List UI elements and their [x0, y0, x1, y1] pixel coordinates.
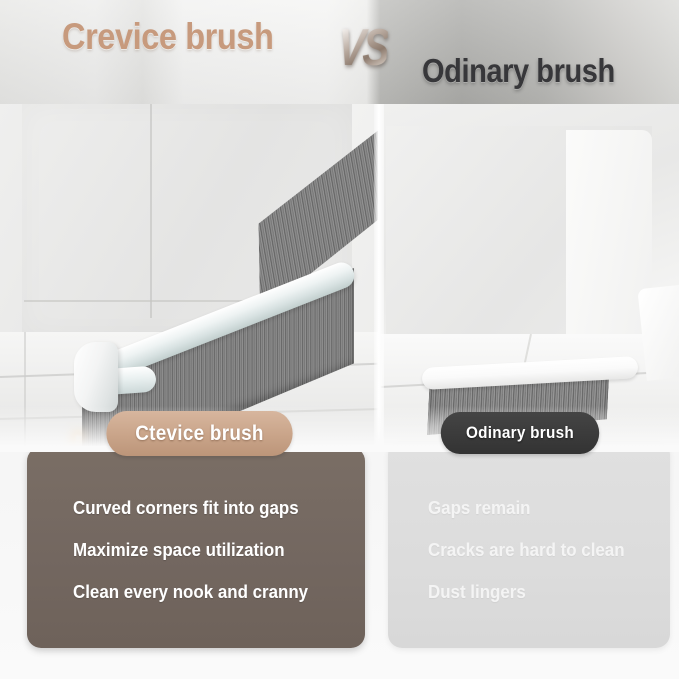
right-photo-ordinary-brush: [380, 104, 679, 452]
left-card-badge: Ctevice brush: [106, 411, 292, 456]
list-item: Gaps remain: [428, 498, 625, 519]
wall-edge: [566, 130, 652, 352]
panel-divider: [374, 104, 384, 452]
infographic-root: Crevice brush Odinary brush VS: [0, 0, 679, 679]
left-benefit-list: Curved corners fit into gaps Maximize sp…: [73, 498, 323, 624]
right-card-badge: Odinary brush: [441, 412, 599, 454]
header-left-title: Crevice brush: [62, 16, 273, 58]
list-item: Clean every nook and cranny: [73, 582, 308, 603]
right-drawback-list: Gaps remain Cracks are hard to clean Dus…: [428, 498, 637, 624]
list-item: Dust lingers: [428, 582, 625, 603]
list-item: Cracks are hard to clean: [428, 540, 625, 561]
wall-seam: [150, 104, 152, 318]
brush-end-cap: [74, 342, 118, 412]
header-right-title: Odinary brush: [422, 52, 615, 90]
vs-label: VS: [336, 18, 389, 78]
list-item: Maximize space utilization: [73, 540, 308, 561]
comparison-photo-stage: [0, 104, 679, 452]
left-photo-crevice-brush: [0, 104, 378, 452]
tile-grout-line: [24, 332, 26, 452]
list-item: Curved corners fit into gaps: [73, 498, 308, 519]
